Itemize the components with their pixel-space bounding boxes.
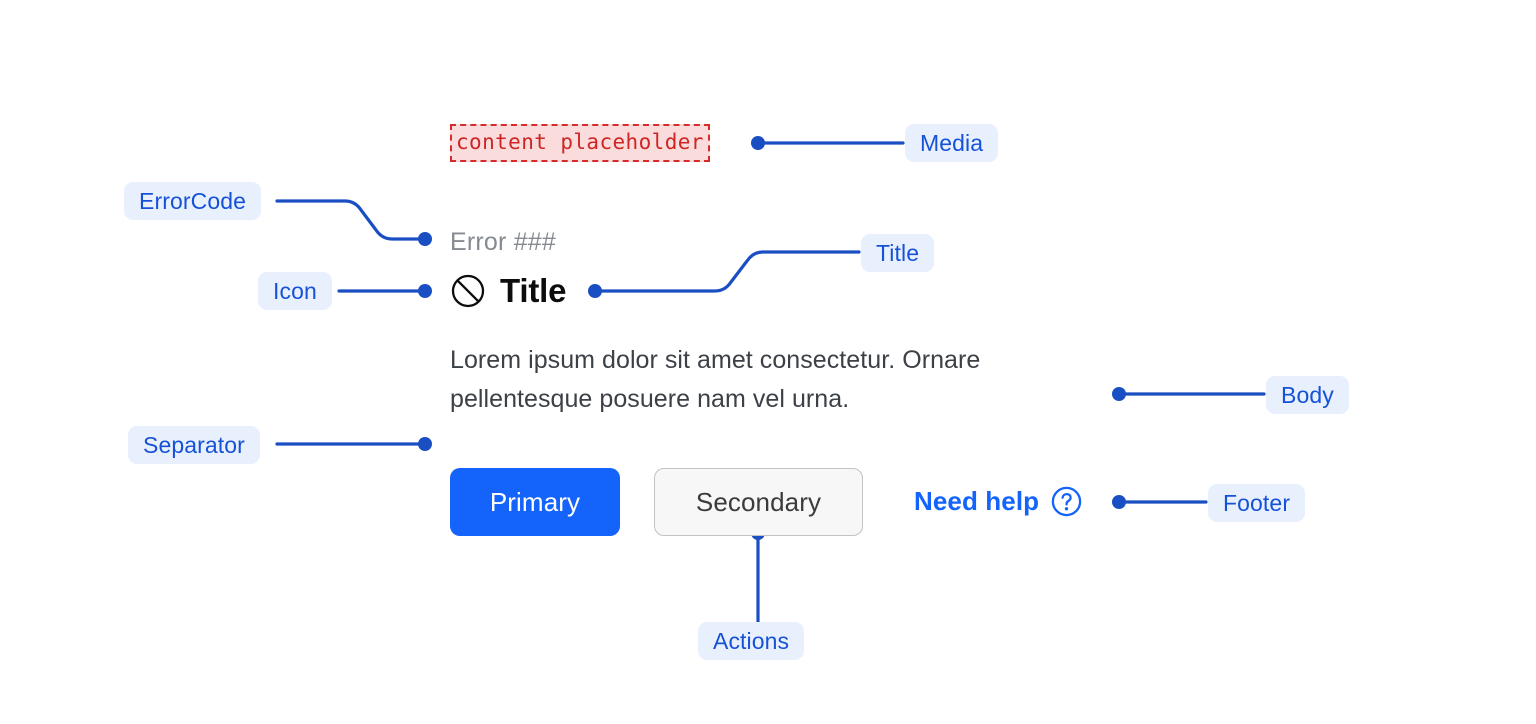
prohibition-circle-slash-icon (450, 273, 486, 309)
connector-dot-footer (1112, 495, 1126, 509)
annotation-canvas: content placeholder Error ### Title Lore… (0, 0, 1536, 724)
secondary-button[interactable]: Secondary (654, 468, 863, 536)
connector-dot-errorcode (418, 232, 432, 246)
body-text: Lorem ipsum dolor sit amet consectetur. … (450, 341, 1110, 419)
connector-title (595, 252, 859, 291)
annotation-pill-body[interactable]: Body (1266, 376, 1349, 414)
annotation-pill-media[interactable]: Media (905, 124, 998, 162)
connector-dot-media (751, 136, 765, 150)
connector-dot-body (1112, 387, 1126, 401)
annotation-pill-icon[interactable]: Icon (258, 272, 332, 310)
annotation-pill-actions[interactable]: Actions (698, 622, 804, 660)
actions-row: Primary Secondary (450, 468, 863, 536)
title-row: Title (450, 268, 566, 314)
question-mark-circle-icon[interactable] (1051, 486, 1082, 517)
annotation-pill-footer[interactable]: Footer (1208, 484, 1305, 522)
primary-button[interactable]: Primary (450, 468, 620, 536)
annotation-pill-separator[interactable]: Separator (128, 426, 260, 464)
need-help-label: Need help (914, 486, 1039, 517)
connector-dot-separator (418, 437, 432, 451)
annotation-pill-title[interactable]: Title (861, 234, 934, 272)
connector-dot-icon (418, 284, 432, 298)
title-text: Title (500, 273, 566, 309)
media-content-placeholder: content placeholder (450, 124, 710, 162)
connector-errorcode (277, 201, 425, 239)
need-help-link[interactable]: Need help (914, 486, 1082, 517)
error-code-text: Error ### (450, 226, 556, 258)
annotation-pill-errorcode[interactable]: ErrorCode (124, 182, 261, 220)
connector-dot-title (588, 284, 602, 298)
